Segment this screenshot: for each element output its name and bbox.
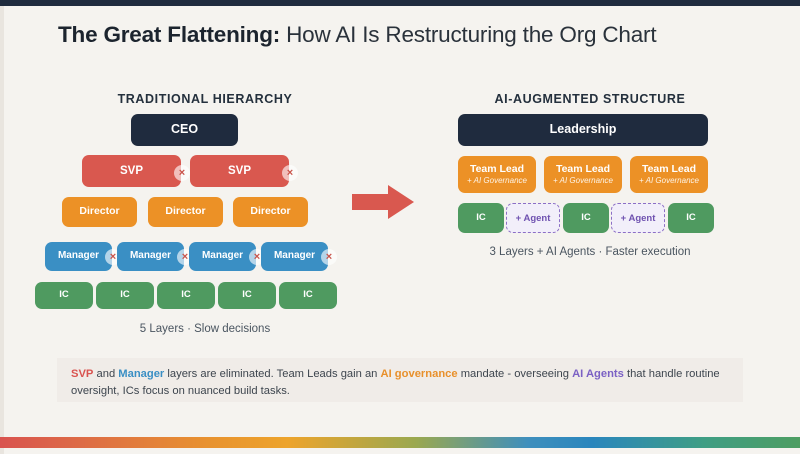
summary-text-2: layers are eliminated. Team Leads gain a…	[164, 368, 380, 380]
node-label: Director	[165, 206, 205, 217]
node-label: Team Lead	[556, 164, 610, 175]
node-svp-2: SVP	[190, 155, 289, 187]
node-ic-right-2: IC	[563, 203, 609, 233]
node-director-2: Director	[148, 197, 223, 227]
top-accent-bar	[0, 0, 800, 6]
cut-icon: ×	[179, 168, 185, 179]
node-label: IC	[59, 290, 69, 300]
node-label: Manager	[274, 251, 315, 262]
bottom-gradient-bar	[0, 437, 800, 448]
cut-badge-svp-1: ×	[174, 165, 190, 181]
node-label: IC	[581, 213, 591, 223]
page-title-strong: The Great Flattening:	[58, 22, 280, 47]
left-column-heading: TRADITIONAL HIERARCHY	[60, 92, 350, 106]
node-label: Manager	[130, 251, 171, 262]
slide-canvas: The Great Flattening: How AI Is Restruct…	[0, 0, 800, 454]
node-ic-left-1: IC	[35, 282, 93, 309]
node-manager-1: Manager	[45, 242, 112, 271]
node-ic-left-2: IC	[96, 282, 154, 309]
cut-badge-manager-4: ×	[321, 249, 337, 265]
node-team-lead-2: Team Lead + AI Governance	[544, 156, 622, 193]
node-svp-1: SVP	[82, 155, 181, 187]
node-label: IC	[686, 213, 696, 223]
node-sublabel: + AI Governance	[639, 177, 699, 186]
node-team-lead-1: Team Lead + AI Governance	[458, 156, 536, 193]
summary-keyword-ai-governance: AI governance	[381, 368, 458, 380]
node-agent-2: + Agent	[611, 203, 665, 233]
node-director-1: Director	[62, 197, 137, 227]
cut-icon: ×	[254, 252, 260, 263]
right-column-heading: AI-AUGMENTED STRUCTURE	[440, 92, 740, 106]
node-label: IC	[181, 290, 191, 300]
node-label: Director	[250, 206, 290, 217]
summary-keyword-manager: Manager	[118, 368, 164, 380]
cut-badge-svp-2: ×	[282, 165, 298, 181]
node-director-3: Director	[233, 197, 308, 227]
cut-icon: ×	[326, 252, 332, 263]
node-sublabel: + AI Governance	[467, 177, 527, 186]
node-ic-left-5: IC	[279, 282, 337, 309]
node-label: Team Lead	[470, 164, 524, 175]
node-label: SVP	[120, 165, 143, 177]
node-sublabel: + AI Governance	[553, 177, 613, 186]
left-rail	[0, 6, 4, 454]
node-label: Team Lead	[642, 164, 696, 175]
node-label: + Agent	[621, 213, 656, 224]
node-label: Manager	[202, 251, 243, 262]
node-label: Director	[79, 206, 119, 217]
node-manager-2: Manager	[117, 242, 184, 271]
node-label: IC	[476, 213, 486, 223]
cut-icon: ×	[287, 168, 293, 179]
node-agent-1: + Agent	[506, 203, 560, 233]
node-ic-right-3: IC	[668, 203, 714, 233]
node-label: IC	[303, 290, 313, 300]
node-manager-3: Manager	[189, 242, 256, 271]
page-title: The Great Flattening: How AI Is Restruct…	[58, 22, 656, 48]
summary-panel: SVP and Manager layers are eliminated. T…	[57, 358, 743, 402]
node-ic-left-4: IC	[218, 282, 276, 309]
node-team-lead-3: Team Lead + AI Governance	[630, 156, 708, 193]
cut-icon: ×	[110, 252, 116, 263]
summary-keyword-svp: SVP	[71, 368, 93, 380]
node-ceo: CEO	[131, 114, 238, 146]
node-label: IC	[242, 290, 252, 300]
transition-arrow-icon	[352, 185, 414, 219]
node-label: Manager	[58, 251, 99, 262]
node-label: IC	[120, 290, 130, 300]
summary-text-1: and	[93, 368, 118, 380]
node-leadership: Leadership	[458, 114, 708, 146]
node-label: + Agent	[516, 213, 551, 224]
right-column-caption: 3 Layers + AI Agents · Faster execution	[440, 246, 740, 258]
node-ic-right-1: IC	[458, 203, 504, 233]
node-label: SVP	[228, 165, 251, 177]
node-manager-4: Manager	[261, 242, 328, 271]
node-label: Leadership	[550, 123, 617, 137]
page-title-light: How AI Is Restructuring the Org Chart	[280, 22, 656, 47]
left-column-caption: 5 Layers · Slow decisions	[55, 323, 355, 335]
cut-icon: ×	[182, 252, 188, 263]
summary-keyword-ai-agents: AI Agents	[572, 368, 624, 380]
summary-text-3: mandate - overseeing	[458, 368, 572, 380]
node-label: CEO	[171, 123, 198, 137]
node-ic-left-3: IC	[157, 282, 215, 309]
